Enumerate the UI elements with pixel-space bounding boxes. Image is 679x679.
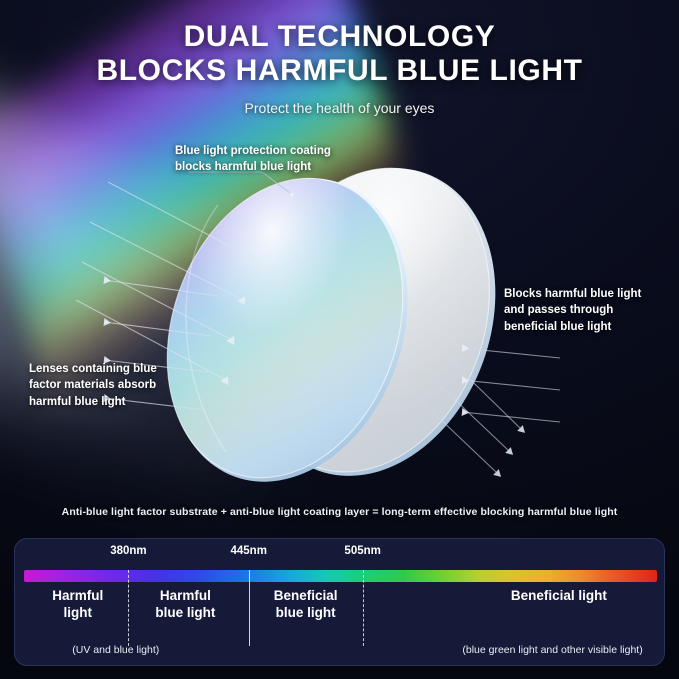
spectrum-band-label: Beneficial blue light <box>274 588 338 622</box>
subtitle: Protect the health of your eyes <box>0 100 679 116</box>
annotation-blocks-and-passes: Blocks harmful blue light and passes thr… <box>504 286 641 335</box>
title-line-1: DUAL TECHNOLOGY <box>0 0 679 54</box>
spectrum-band-label: Harmful light <box>52 588 103 622</box>
summary-caption: Anti-blue light factor substrate + anti-… <box>0 506 679 518</box>
spectrum-divider <box>249 570 250 646</box>
annotation-coating: Blue light protection coating blocks har… <box>175 143 331 176</box>
wavelength-label: 505nm <box>344 545 380 557</box>
spectrum-divider <box>363 570 364 646</box>
spectrum-bar <box>24 570 657 582</box>
light-beam-glow-secondary <box>0 131 328 506</box>
title-line-2: BLOCKS HARMFUL BLUE LIGHT <box>0 54 679 88</box>
incoming-rays <box>76 182 260 380</box>
lens-sheen <box>186 205 226 452</box>
transmitted-rays <box>418 352 520 472</box>
right-inbound-rays <box>462 348 560 422</box>
spectrum-panel: 380nm445nm505nm Harmful light(UV and blu… <box>14 538 665 666</box>
leader-line-top <box>188 172 294 197</box>
light-beam-glow <box>0 45 389 560</box>
front-lens <box>127 144 448 515</box>
wavelength-label: 380nm <box>110 545 146 557</box>
spectrum-band-sublabel: (UV and blue light) <box>72 644 159 656</box>
back-lens <box>206 133 537 511</box>
wavelength-label: 445nm <box>230 545 266 557</box>
infographic-poster: DUAL TECHNOLOGY BLOCKS HARMFUL BLUE LIGH… <box>0 0 679 679</box>
spectrum-band-label: Harmful blue light <box>155 588 215 622</box>
annotation-blue-factor: Lenses containing blue factor materials … <box>29 361 157 410</box>
spectrum-divider <box>128 570 129 646</box>
spectrum-band-label: Beneficial light <box>511 588 607 605</box>
wavelength-marker-row: 380nm445nm505nm <box>15 539 664 570</box>
poster-header: DUAL TECHNOLOGY BLOCKS HARMFUL BLUE LIGH… <box>0 0 679 116</box>
spectrum-band-sublabel: (blue green light and other visible ligh… <box>462 644 642 656</box>
